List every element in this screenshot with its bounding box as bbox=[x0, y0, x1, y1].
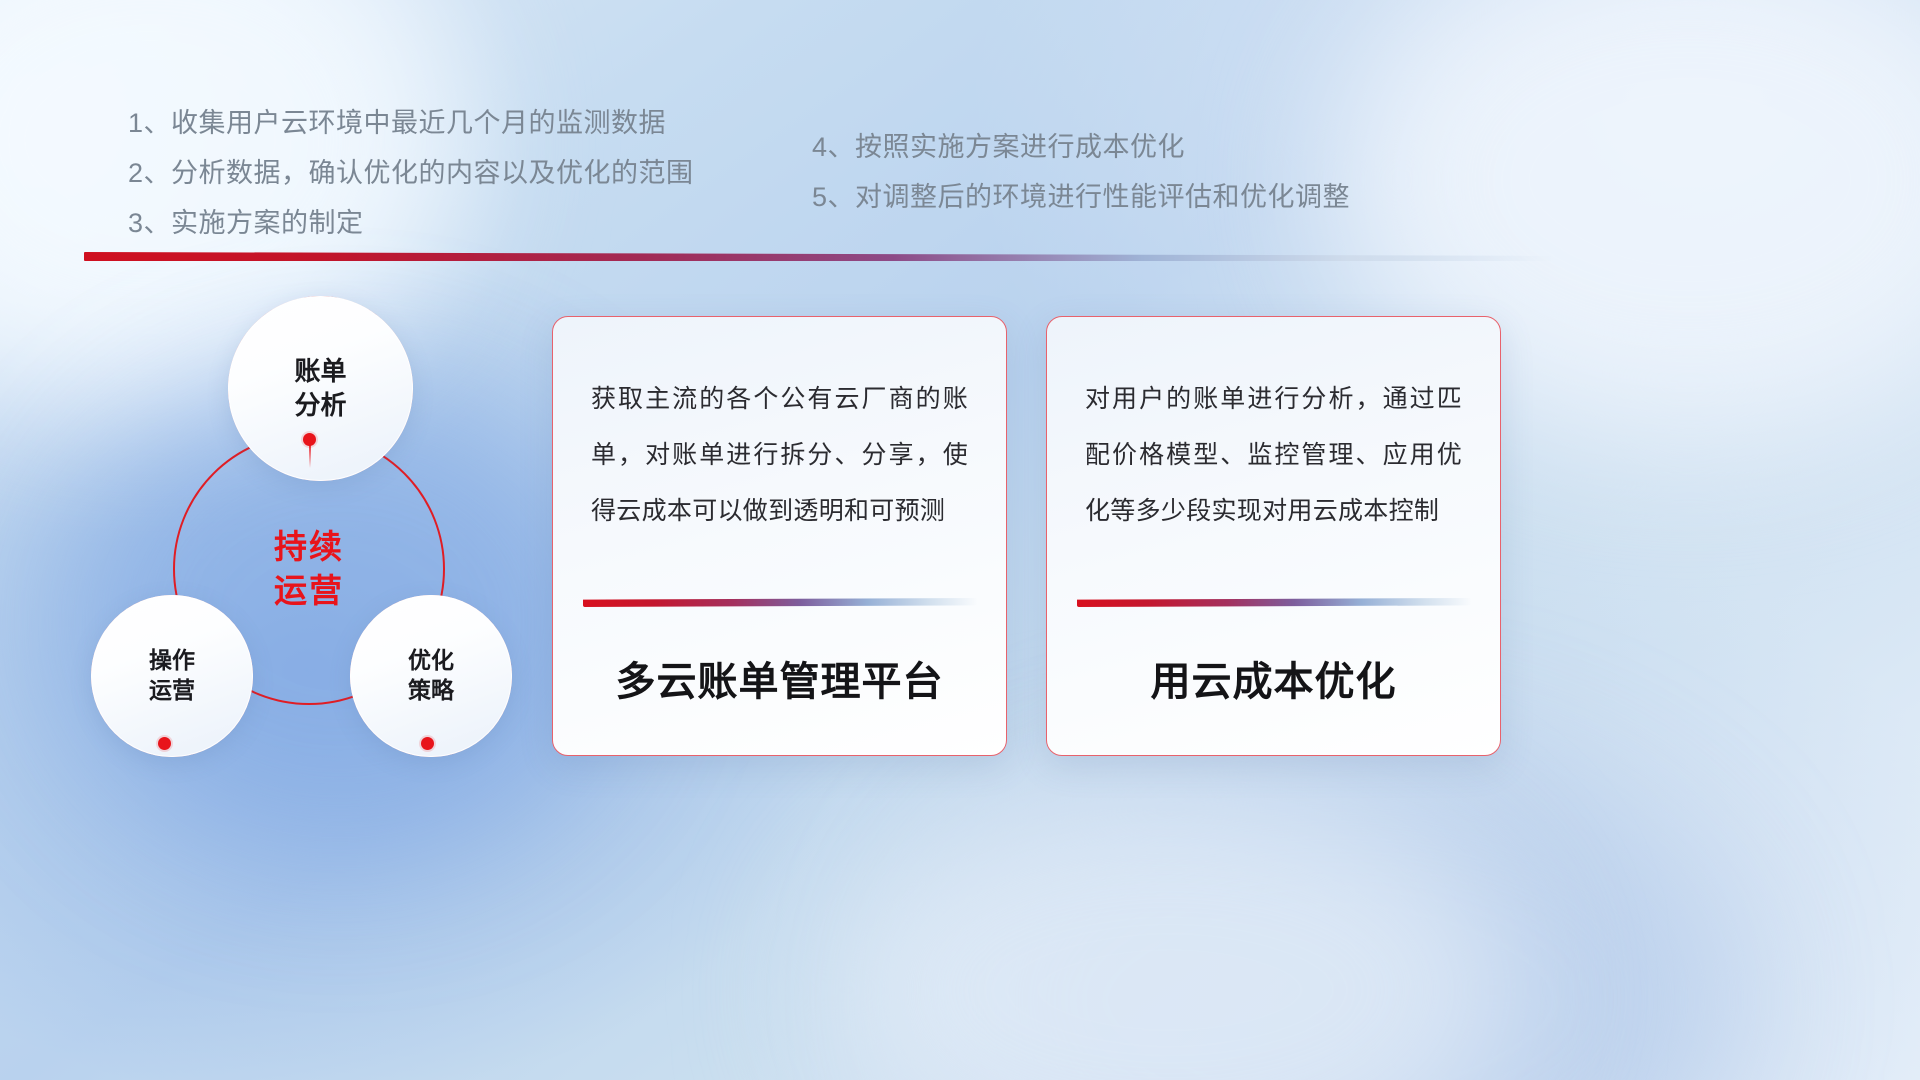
step-item: 1、收集用户云环境中最近几个月的监测数据 bbox=[128, 98, 694, 148]
connector-dot bbox=[421, 737, 434, 750]
venn-node-label-line2: 分析 bbox=[294, 389, 346, 423]
steps-left-column: 1、收集用户云环境中最近几个月的监测数据 2、分析数据，确认优化的内容以及优化的… bbox=[128, 98, 694, 248]
card-body-text: 获取主流的各个公有云厂商的账单，对账单进行拆分、分享，使得云成本可以做到透明和可… bbox=[591, 371, 968, 539]
steps-right-column: 4、按照实施方案进行成本优化 5、对调整后的环境进行性能评估和优化调整 bbox=[812, 122, 1350, 222]
step-item: 2、分析数据，确认优化的内容以及优化的范围 bbox=[128, 148, 694, 198]
card-cloud-cost-optimization[interactable]: 对用户的账单进行分析，通过匹配价格模型、监控管理、应用优化等多少段实现对用云成本… bbox=[1046, 316, 1501, 756]
card-divider bbox=[583, 598, 978, 607]
card-divider bbox=[1077, 598, 1472, 607]
background-blob bbox=[820, 780, 1520, 1080]
background-blob bbox=[920, 740, 1740, 1080]
card-multi-cloud-billing-platform[interactable]: 获取主流的各个公有云厂商的账单，对账单进行拆分、分享，使得云成本可以做到透明和可… bbox=[552, 316, 1007, 756]
step-item: 3、实施方案的制定 bbox=[128, 198, 694, 248]
section-divider bbox=[84, 252, 1554, 261]
step-item: 4、按照实施方案进行成本优化 bbox=[812, 122, 1350, 172]
venn-node-label-line1: 账单 bbox=[294, 355, 346, 389]
gradient-bar bbox=[84, 252, 1554, 261]
card-body-text: 对用户的账单进行分析，通过匹配价格模型、监控管理、应用优化等多少段实现对用云成本… bbox=[1085, 371, 1462, 539]
venn-center-label: 持续 运营 bbox=[173, 433, 445, 705]
card-title: 多云账单管理平台 bbox=[553, 649, 1006, 707]
card-title: 用云成本优化 bbox=[1047, 649, 1500, 707]
connector-dot bbox=[303, 433, 316, 446]
venn-center-label-line1: 持续 bbox=[274, 525, 344, 569]
venn-center-label-line2: 运营 bbox=[274, 569, 344, 613]
venn-diagram: 账单 分析 操作 运营 优化 策略 持续 运营 bbox=[80, 290, 550, 770]
connector-dot bbox=[158, 737, 171, 750]
step-item: 5、对调整后的环境进行性能评估和优化调整 bbox=[812, 172, 1350, 222]
slide-canvas: 1、收集用户云环境中最近几个月的监测数据 2、分析数据，确认优化的内容以及优化的… bbox=[0, 0, 1920, 1080]
